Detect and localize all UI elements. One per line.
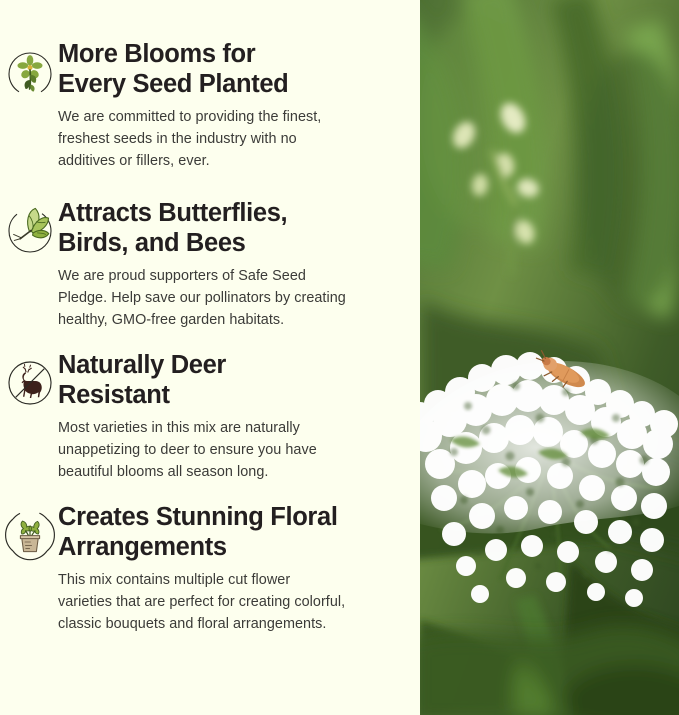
product-feature-panel: More Blooms for Every Seed Planted We ar… <box>0 0 679 715</box>
feature-title: More Blooms for Every Seed Planted <box>58 40 402 99</box>
feature-description: We are proud supporters of Safe Seed Ple… <box>58 265 402 331</box>
feature-block-deer-resistant: Naturally Deer Resistant Most varieties … <box>0 351 420 483</box>
feature-title: Creates Stunning Floral Arrangements <box>58 503 402 562</box>
feature-text: Naturally Deer Resistant Most varieties … <box>58 351 420 483</box>
no-deer-in-circle-icon <box>2 355 58 411</box>
feature-title: Naturally Deer Resistant <box>58 351 402 410</box>
butterfly-in-circle-icon <box>2 203 58 259</box>
feature-block-floral-arrangements: Creates Stunning Floral Arrangements Thi… <box>0 503 420 635</box>
feature-description: We are committed to providing the finest… <box>58 106 402 172</box>
feature-description: Most varieties in this mix are naturally… <box>58 417 402 483</box>
feature-text: Creates Stunning Floral Arrangements Thi… <box>58 503 420 635</box>
feature-text: More Blooms for Every Seed Planted We ar… <box>58 40 420 172</box>
feature-title: Attracts Butterflies, Birds, and Bees <box>58 199 402 258</box>
feature-block-attracts-pollinators: Attracts Butterflies, Birds, and Bees We… <box>0 199 420 331</box>
flower-in-circle-icon <box>2 44 58 100</box>
feature-text: Attracts Butterflies, Birds, and Bees We… <box>58 199 420 331</box>
features-column: More Blooms for Every Seed Planted We ar… <box>0 0 420 715</box>
potted-plant-in-circle-icon <box>2 507 58 563</box>
queen-annes-lace-photo <box>420 0 679 715</box>
feature-block-more-blooms: More Blooms for Every Seed Planted We ar… <box>0 40 420 172</box>
feature-description: This mix contains multiple cut flower va… <box>58 569 402 635</box>
